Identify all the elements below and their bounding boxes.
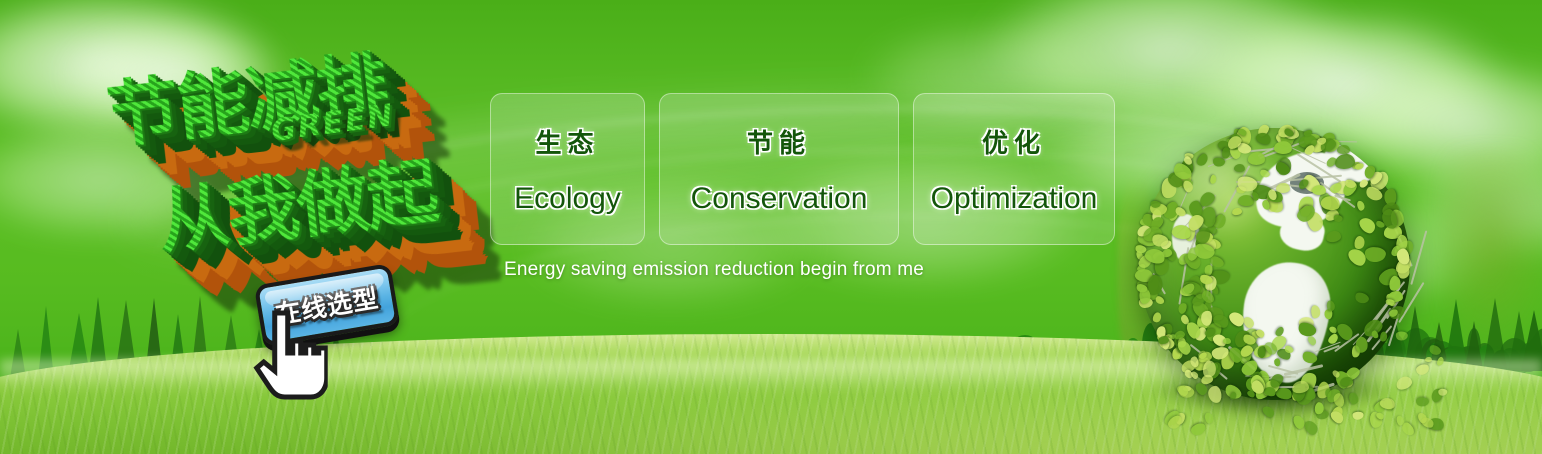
hand-pointer-icon: [250, 309, 328, 401]
leaf-icon: [1364, 246, 1387, 264]
leaf-icon: [1332, 214, 1343, 224]
leaf-icon: [1335, 153, 1356, 168]
leaf-icon: [1355, 162, 1365, 170]
vine-branch: [1410, 231, 1427, 285]
feature-card-title-cn: 节能: [747, 123, 811, 160]
vine-leaf-ring: [1120, 118, 1420, 418]
leaf-icon: [1336, 144, 1349, 154]
feature-card-conservation[interactable]: 节能 Conservation: [659, 93, 899, 245]
feature-card-title-cn: 优化: [982, 123, 1046, 160]
leaf-icon: [1356, 200, 1365, 211]
leaf-icon: [1243, 315, 1257, 330]
leaf-icon: [1223, 337, 1232, 345]
vine-branch: [1398, 281, 1424, 322]
foliage-decoration: [1442, 150, 1542, 380]
leaf-icon: [1310, 305, 1320, 318]
leaf-icon: [1152, 311, 1164, 324]
hero-headline: 节能减排 从我做起 GREEN: [87, 14, 513, 308]
leaf-icon: [1353, 291, 1370, 306]
feature-card-title-en: Ecology: [514, 182, 621, 216]
leaf-icon: [1325, 230, 1342, 243]
hero-tagline: Energy saving emission reduction begin f…: [504, 259, 924, 281]
leaf-icon: [1177, 384, 1196, 401]
leaf-icon: [1274, 357, 1281, 366]
leaf-icon: [1259, 168, 1271, 179]
leaf-icon: [1355, 336, 1369, 354]
leaf-icon: [1353, 235, 1366, 251]
leaf-icon: [1395, 375, 1414, 391]
leaf-icon: [1213, 157, 1226, 168]
feature-card-title-cn: 生态: [535, 123, 599, 160]
leaf-icon: [1232, 208, 1243, 216]
leaf-icon: [1427, 344, 1442, 358]
leaf-icon: [1349, 392, 1359, 405]
leaf-icon: [1247, 151, 1265, 165]
feature-card-title-en: Conservation: [691, 182, 868, 216]
leaf-icon: [1208, 385, 1222, 404]
feature-card-optimization[interactable]: 优化 Optimization: [913, 93, 1115, 245]
leaf-icon: [1333, 392, 1345, 407]
eco-hero-banner: 节能减排 从我做起 GREEN 在线选型 生态 Ecology 节能 Conse…: [0, 0, 1542, 454]
feature-card-ecology[interactable]: 生态 Ecology: [490, 93, 645, 245]
leafy-globe-icon: [1120, 118, 1420, 418]
leaf-icon: [1326, 300, 1335, 312]
leaf-icon: [1154, 295, 1165, 306]
leaf-icon: [1227, 309, 1246, 328]
leaf-icon: [1209, 174, 1217, 184]
feature-cards: 生态 Ecology 节能 Conservation 优化 Optimizati…: [490, 93, 1115, 245]
leaf-icon: [1190, 370, 1199, 379]
leaf-icon: [1357, 178, 1368, 189]
leaf-icon: [1260, 404, 1276, 420]
leaf-icon: [1395, 332, 1408, 342]
feature-card-title-en: Optimization: [931, 182, 1098, 216]
leaf-icon: [1307, 335, 1318, 347]
